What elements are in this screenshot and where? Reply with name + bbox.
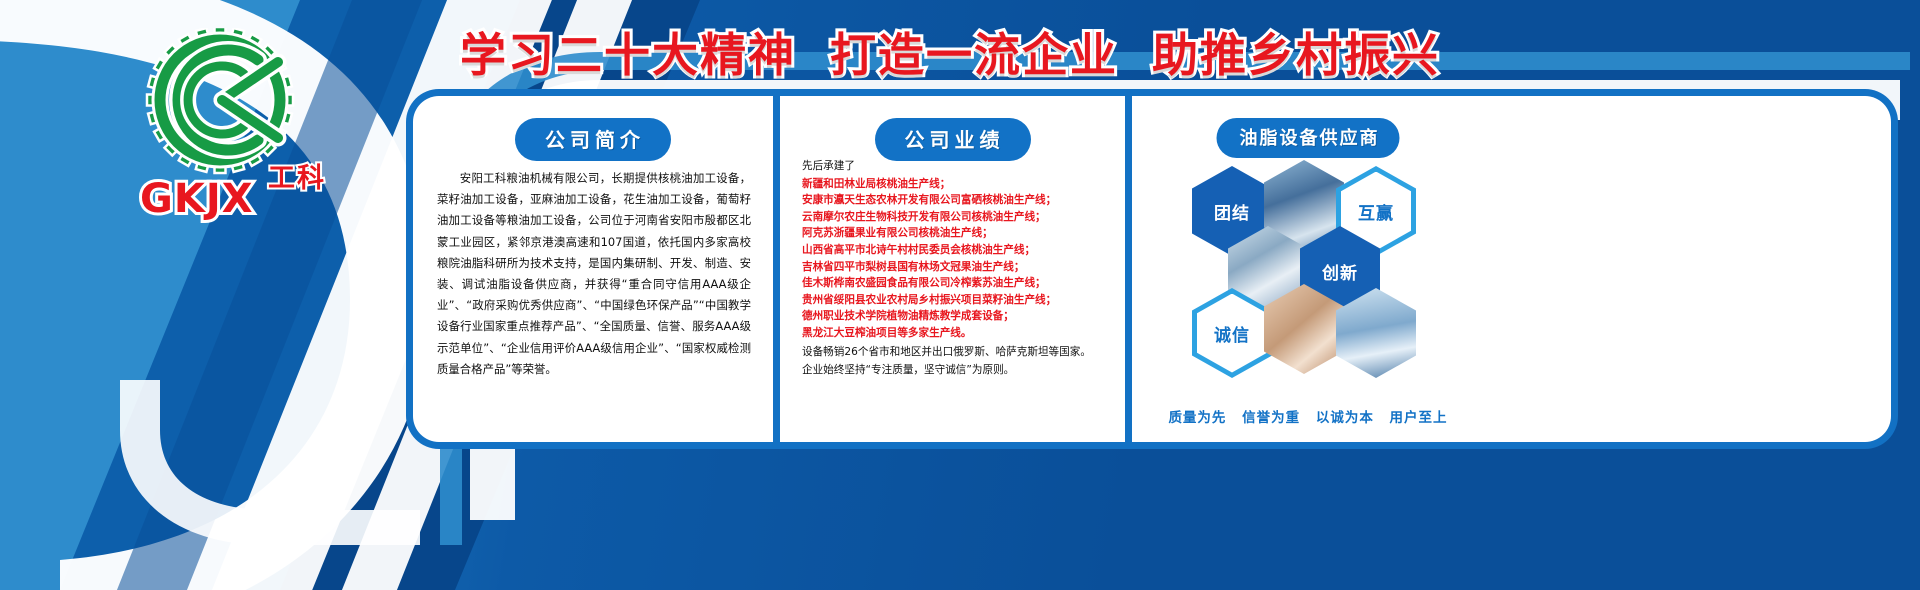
hex-label-inner: 诚信 — [1197, 294, 1267, 373]
headline-part-3: 助推乡村振兴 — [1152, 19, 1440, 85]
panel-divider-1 — [773, 96, 780, 442]
project-item: 新疆和田林业局核桃油生产线； — [802, 176, 1111, 193]
banner-headline: 学习二十大精神 打造一流企业 助推乡村振兴 — [400, 18, 1500, 86]
panel-oil-equipment-supplier: 油脂设备供应商 团结 互赢 创新 诚信 — [1132, 96, 1484, 442]
project-item: 贵州省绥阳县农业农村局乡村振兴项目菜籽油生产线； — [802, 292, 1111, 309]
panel2-lead: 先后承建了 — [802, 158, 1111, 175]
panel3-heading: 油脂设备供应商 — [1217, 118, 1400, 158]
hex-label: 互赢 — [1358, 199, 1394, 224]
hexagon-grid: 团结 互赢 创新 诚信 — [1140, 154, 1476, 379]
panel-divider-2 — [1125, 96, 1132, 442]
slogan-part: 以诚为本 — [1316, 410, 1374, 426]
panel1-body-text: 安阳工科粮油机械有限公司，长期提供核桃油加工设备，菜籽油加工设备，亚麻油加工设备… — [437, 168, 751, 380]
project-item: 黑龙江大豆榨油项目等多家生产线。 — [802, 325, 1111, 342]
panel-company-intro: 公司简介 安阳工科粮油机械有限公司，长期提供核桃油加工设备，菜籽油加工设备，亚麻… — [413, 96, 773, 442]
headline-part-2: 打造一流企业 — [830, 19, 1118, 85]
panel-company-achievements: 公司业绩 先后承建了 新疆和田林业局核桃油生产线； 安康市瀛天生态农林开发有限公… — [780, 96, 1125, 442]
panel2-body: 先后承建了 新疆和田林业局核桃油生产线； 安康市瀛天生态农林开发有限公司富硒核桃… — [802, 158, 1111, 379]
logo-chinese-name: 工科 — [268, 156, 326, 195]
panel2-footer-line: 设备畅销26个省市和地区并出口俄罗斯、哈萨克斯坦等国家。 — [802, 344, 1111, 361]
panel2-heading: 公司业绩 — [875, 118, 1031, 161]
company-logo: 工科 GKJX — [120, 28, 335, 203]
hex-label: 创新 — [1322, 259, 1358, 284]
headline-part-1: 学习二十大精神 — [460, 19, 796, 85]
hex-label: 团结 — [1214, 199, 1250, 224]
slogan-part: 质量为先 — [1168, 410, 1226, 426]
hex-label: 诚信 — [1214, 321, 1250, 346]
panels-container: 公司简介 安阳工科粮油机械有限公司，长期提供核桃油加工设备，菜籽油加工设备，亚麻… — [413, 96, 1891, 442]
poster-board: 学习二十大精神 打造一流企业 助推乡村振兴 — [0, 0, 1920, 590]
project-item: 德州职业技术学院植物油精炼教学成套设备； — [802, 308, 1111, 325]
project-item: 阿克苏浙疆果业有限公司核桃油生产线； — [802, 225, 1111, 242]
slogan-part: 信誉为重 — [1242, 410, 1300, 426]
panel2-footer-line: 企业始终坚持“专注质量，坚守诚信”为原则。 — [802, 362, 1111, 379]
project-item: 佳木斯桦南农盛园食品有限公司冷榨紫苏油生产线； — [802, 275, 1111, 292]
project-item: 山西省高平市北诗午村村民委员会核桃油生产线； — [802, 242, 1111, 259]
project-item: 云南摩尔农庄生物科技开发有限公司核桃油生产线； — [802, 209, 1111, 226]
project-item: 吉林省四平市梨树县国有林场文冠果油生产线； — [802, 259, 1111, 276]
slogan-part: 用户至上 — [1390, 410, 1448, 426]
panel3-slogan: 质量为先 信誉为重 以诚为本 用户至上 — [1132, 406, 1484, 426]
logo-english-name: GKJX — [140, 176, 254, 222]
panel1-heading: 公司简介 — [515, 118, 671, 161]
project-item: 安康市瀛天生态农林开发有限公司富硒核桃油生产线； — [802, 192, 1111, 209]
